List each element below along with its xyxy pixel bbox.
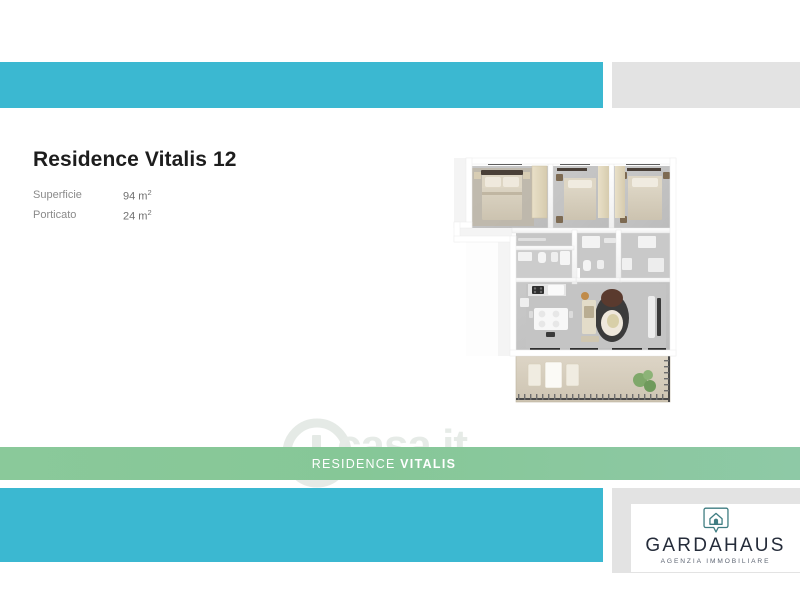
banner-prefix: RESIDENCE (312, 457, 400, 471)
agency-logo: GARDAHAUS AGENZIA IMMOBILIARE (631, 504, 800, 572)
banner-text: RESIDENCE VITALIS (312, 457, 457, 471)
room-terrace (516, 356, 670, 402)
floorplan-svg (452, 148, 686, 412)
page-title: Residence Vitalis 12 (33, 148, 363, 172)
bottom-cyan-band (0, 488, 603, 562)
spec-label-porticato: Porticato (33, 206, 123, 226)
unit-info-block: Residence Vitalis 12 Superficie 94 m2 Po… (33, 148, 363, 226)
table-row: Porticato 24 m2 (33, 206, 152, 226)
top-gray-band (612, 62, 800, 108)
table-row: Superficie 94 m2 (33, 186, 152, 206)
green-banner: RESIDENCE VITALIS (0, 447, 800, 480)
room-master-bedroom (474, 166, 547, 220)
spec-label-superficie: Superficie (33, 186, 123, 206)
floorplan-image (452, 148, 686, 412)
banner-name: VITALIS (400, 457, 456, 471)
spec-table: Superficie 94 m2 Porticato 24 m2 (33, 186, 152, 226)
spec-value-porticato: 24 m2 (123, 206, 152, 226)
top-cyan-band (0, 62, 603, 108)
house-in-bubble-icon (703, 507, 729, 535)
logo-tagline: AGENZIA IMMOBILIARE (661, 559, 771, 566)
spec-value-superficie: 94 m2 (123, 186, 152, 206)
logo-wordmark: GARDAHAUS (645, 536, 785, 555)
unit-exponent: 2 (147, 188, 151, 197)
unit-exponent: 2 (147, 208, 151, 217)
floorplan-brochure-page: Residence Vitalis 12 Superficie 94 m2 Po… (0, 0, 800, 600)
